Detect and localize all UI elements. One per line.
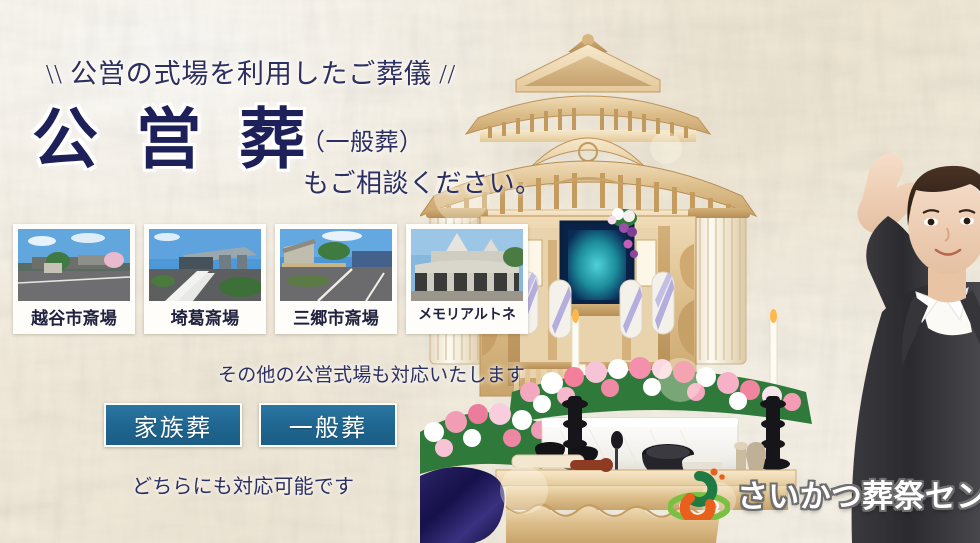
funeral-hall-misato-photo: [280, 229, 392, 301]
tagline: \\ 公営の式場を利用したご葬儀 //: [46, 52, 456, 91]
venue-card-koshigaya[interactable]: 越谷市斎場: [13, 224, 135, 334]
service-type-buttons: 家族葬 一般葬: [104, 403, 397, 447]
funeral-hall-saikatsu-photo: [149, 229, 261, 301]
venue-thumbnail-list: 越谷市斎場: [13, 224, 528, 334]
venue-caption: メモリアルトネ: [411, 301, 523, 326]
headline-parenthetical: （一般葬）: [301, 122, 423, 157]
company-logo[interactable]: さいかつ葬祭センター: [668, 466, 980, 520]
venue-caption: 埼葛斎場: [149, 301, 261, 331]
venue-caption: 越谷市斎場: [18, 301, 130, 331]
general-funeral-button[interactable]: 一般葬: [259, 403, 397, 447]
both-supported-note: どちらにも対応可能です: [132, 470, 354, 499]
promo-banner: \\ 公営の式場を利用したご葬儀 // 公 営 葬 （一般葬） もご相談ください…: [0, 0, 980, 543]
copy-column: \\ 公営の式場を利用したご葬儀 // 公 営 葬 （一般葬） もご相談ください…: [0, 0, 560, 543]
headline-subtext: もご相談ください。: [303, 163, 542, 200]
venue-card-misato[interactable]: 三郷市斎場: [275, 224, 397, 334]
venue-caption: 三郷市斎場: [280, 301, 392, 331]
venue-card-saikatsu[interactable]: 埼葛斎場: [144, 224, 266, 334]
logo-wordmark: さいかつ葬祭センター: [737, 471, 980, 516]
page-title: 公 営 葬: [32, 108, 316, 174]
saikatsu-s-swirl-logo-icon: [668, 466, 730, 520]
family-funeral-button[interactable]: 家族葬: [104, 403, 242, 447]
other-venues-note: その他の公営式場も対応いたします: [218, 360, 525, 387]
venue-card-memorial-tone[interactable]: メモリアルトネ: [406, 224, 528, 334]
funeral-hall-koshigaya-photo: [18, 229, 130, 301]
funeral-hall-memorial-tone-photo: [411, 229, 523, 301]
